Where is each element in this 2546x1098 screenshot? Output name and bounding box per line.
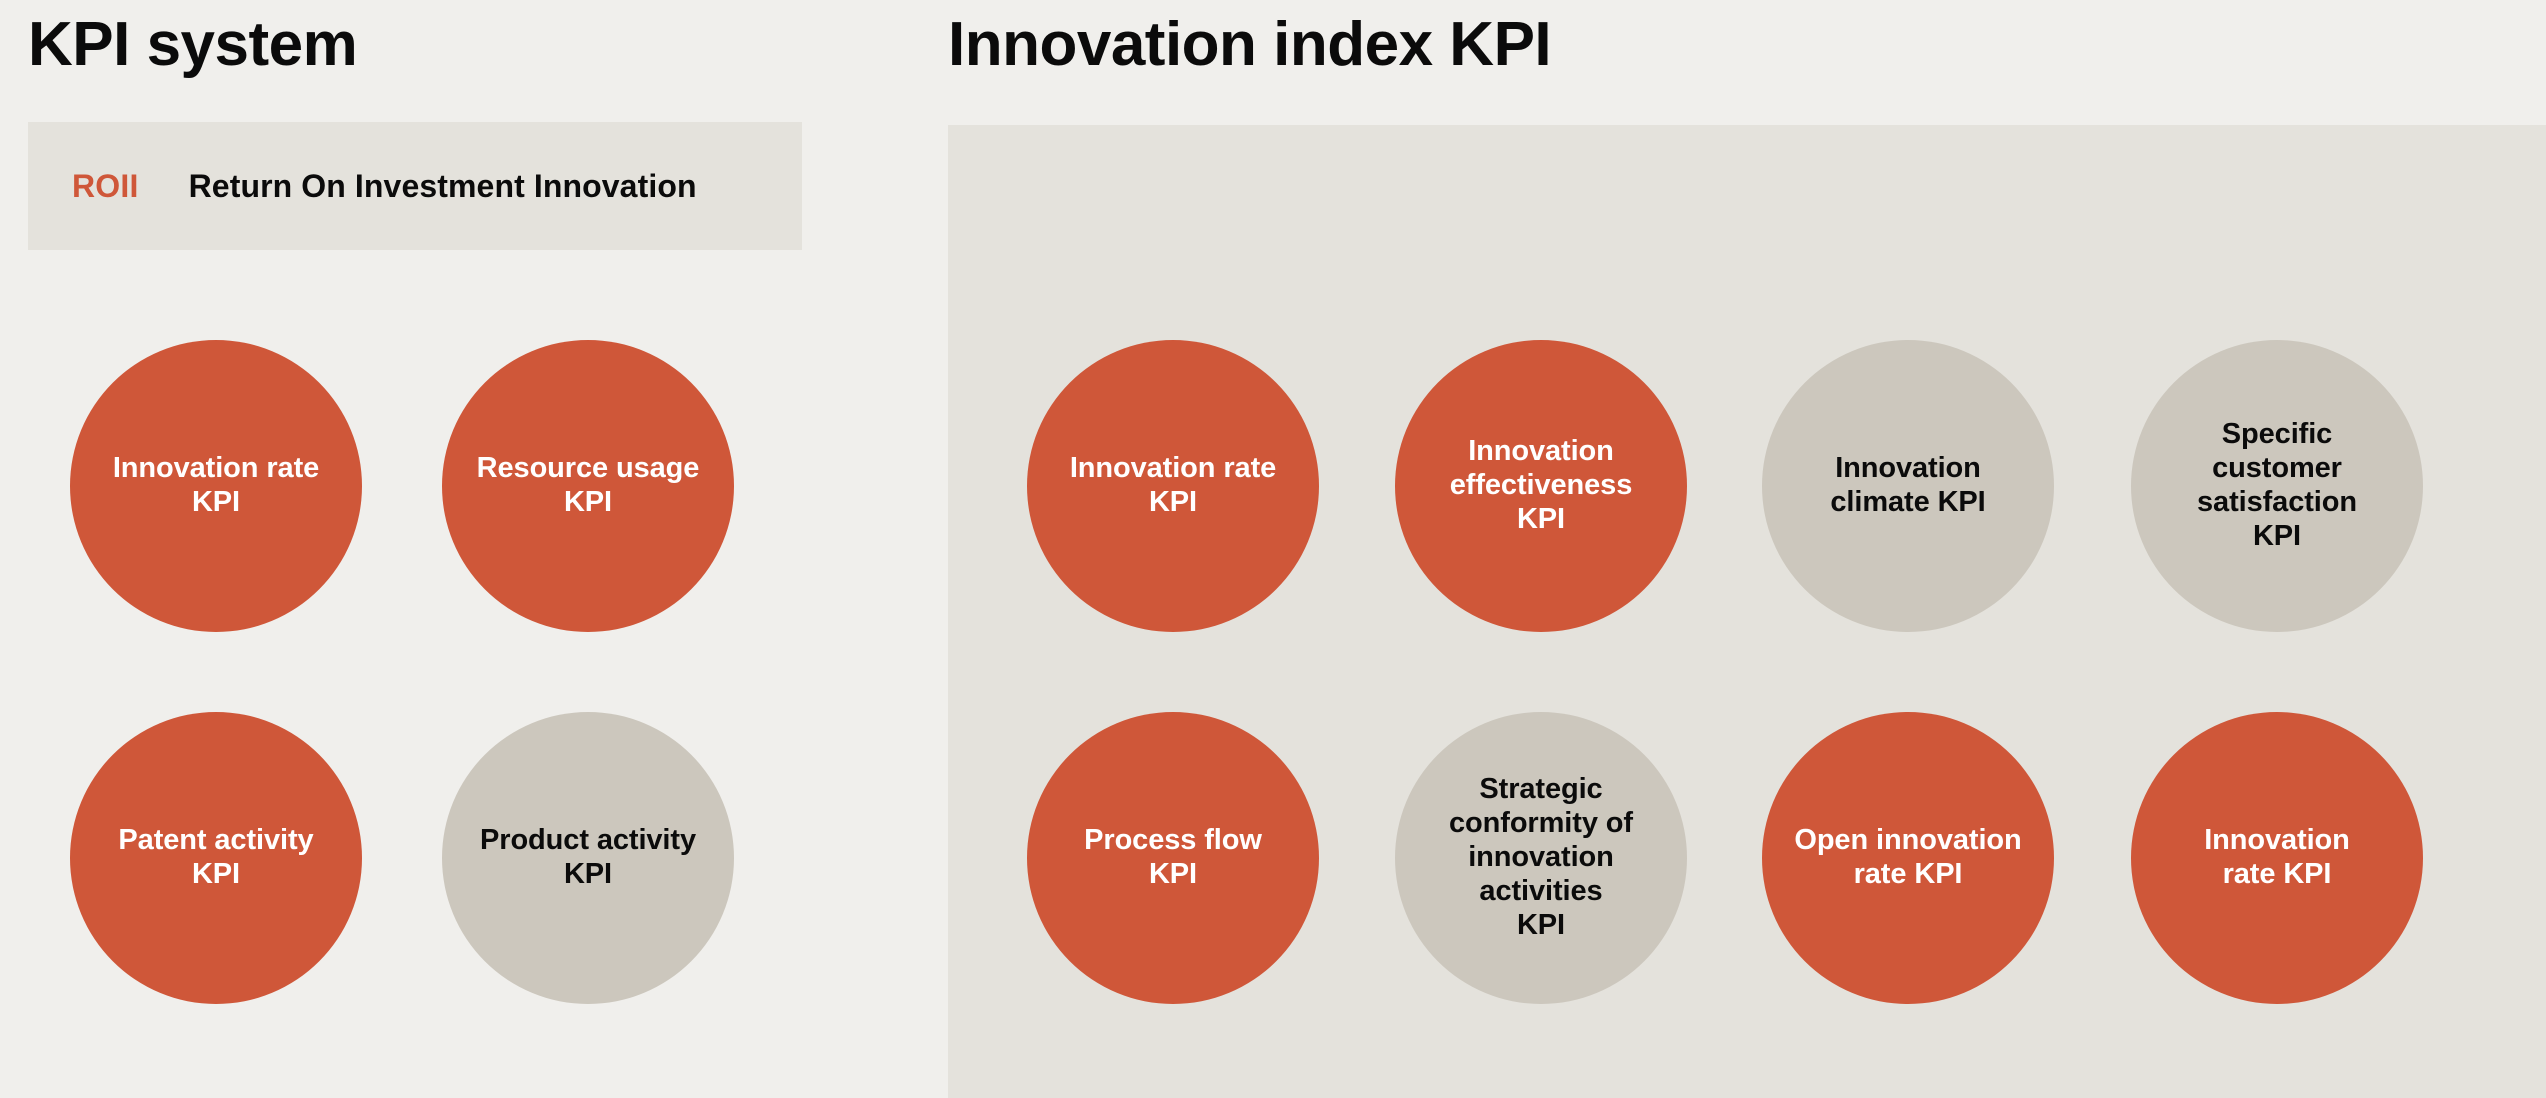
kpi-circle-label: Innovation rate KPI <box>2204 824 2350 892</box>
slide-canvas: KPI system ROII Return On Investment Inn… <box>0 0 2546 1098</box>
kpi-circle-label: Innovation rate KPI <box>113 452 319 520</box>
kpi-circle-innovation-rate-open[interactable]: Innovation rate KPI <box>2131 712 2423 1004</box>
kpi-circle-label: Innovation rate KPI <box>1070 452 1276 520</box>
roii-legend-bar: ROII Return On Investment Innovation <box>28 122 802 250</box>
roii-description: Return On Investment Innovation <box>189 168 697 205</box>
kpi-system-title: KPI system <box>28 14 357 76</box>
kpi-circle-innovation-rate-index[interactable]: Innovation rate KPI <box>1027 340 1319 632</box>
kpi-circle-label: Innovation effectiveness KPI <box>1450 435 1632 537</box>
kpi-circle-label: Patent activity KPI <box>118 824 313 892</box>
kpi-circle-label: Resource usage KPI <box>477 452 700 520</box>
kpi-circle-innovation-climate[interactable]: Innovation climate KPI <box>1762 340 2054 632</box>
kpi-circle-open-innovation-rate[interactable]: Open innovation rate KPI <box>1762 712 2054 1004</box>
kpi-circle-label: Strategic conformity of innovation activ… <box>1449 773 1633 943</box>
kpi-circle-patent-activity[interactable]: Patent activity KPI <box>70 712 362 1004</box>
kpi-circle-label: Innovation climate KPI <box>1830 452 1985 520</box>
kpi-circle-product-activity[interactable]: Product activity KPI <box>442 712 734 1004</box>
innovation-index-kpi-title: Innovation index KPI <box>948 14 1551 76</box>
kpi-circle-innovation-effectiveness[interactable]: Innovation effectiveness KPI <box>1395 340 1687 632</box>
kpi-circle-label: Process flow KPI <box>1084 824 1262 892</box>
kpi-circle-process-flow[interactable]: Process flow KPI <box>1027 712 1319 1004</box>
kpi-circle-specific-customer-satisfaction[interactable]: Specific customer satisfaction KPI <box>2131 340 2423 632</box>
kpi-circle-label: Product activity KPI <box>480 824 696 892</box>
kpi-circle-label: Specific customer satisfaction KPI <box>2197 418 2357 554</box>
kpi-circle-label: Open innovation rate KPI <box>1794 824 2021 892</box>
kpi-circle-strategic-conformity[interactable]: Strategic conformity of innovation activ… <box>1395 712 1687 1004</box>
kpi-circle-resource-usage[interactable]: Resource usage KPI <box>442 340 734 632</box>
roii-abbreviation: ROII <box>72 168 139 205</box>
kpi-circle-innovation-rate[interactable]: Innovation rate KPI <box>70 340 362 632</box>
